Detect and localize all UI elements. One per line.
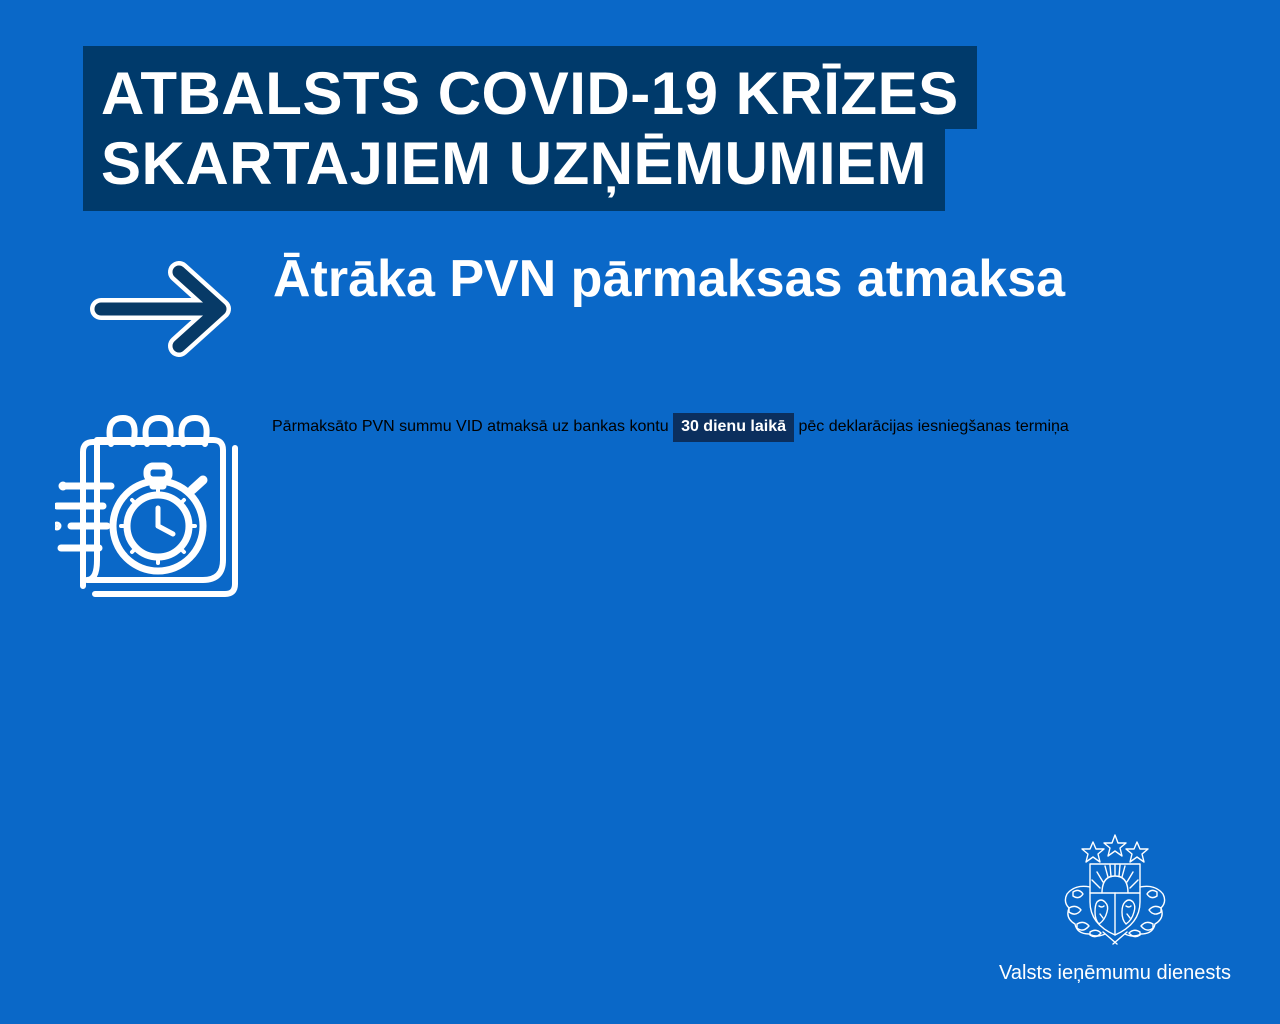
arrow-right-icon [83,252,243,367]
body-section: Pārmaksāto PVN summu VID atmaksā uz bank… [55,408,1235,608]
title-line-2: SKARTAJIEM UZŅĒMUMIEM [83,129,945,211]
subtitle-text: Ātrāka PVN pārmaksas atmaksa [273,248,1065,310]
calendar-stopwatch-icon [55,408,255,608]
subtitle-section: Ātrāka PVN pārmaksas atmaksa [83,248,1203,367]
poster-title: ATBALSTS COVID-19 KRĪZES SKARTAJIEM UZŅĒ… [83,46,1193,211]
latvia-coat-of-arms-icon [1055,832,1175,950]
title-line-1: ATBALSTS COVID-19 KRĪZES [83,46,977,129]
paragraph-text: Pārmaksāto PVN summu VID atmaksā uz bank… [272,418,673,435]
paragraph-list: Pārmaksāto PVN summu VID atmaksā uz bank… [272,408,1172,436]
highlighted-phrase: 30 dienu laikā [673,413,794,442]
infographic-poster: ATBALSTS COVID-19 KRĪZES SKARTAJIEM UZŅĒ… [0,0,1280,1024]
organization-logo: Valsts ieņēmumu dienests [990,832,1240,986]
paragraph-text: pēc deklarācijas iesniegšanas termiņa [794,418,1069,435]
logo-caption: Valsts ieņēmumu dienests [990,960,1240,986]
